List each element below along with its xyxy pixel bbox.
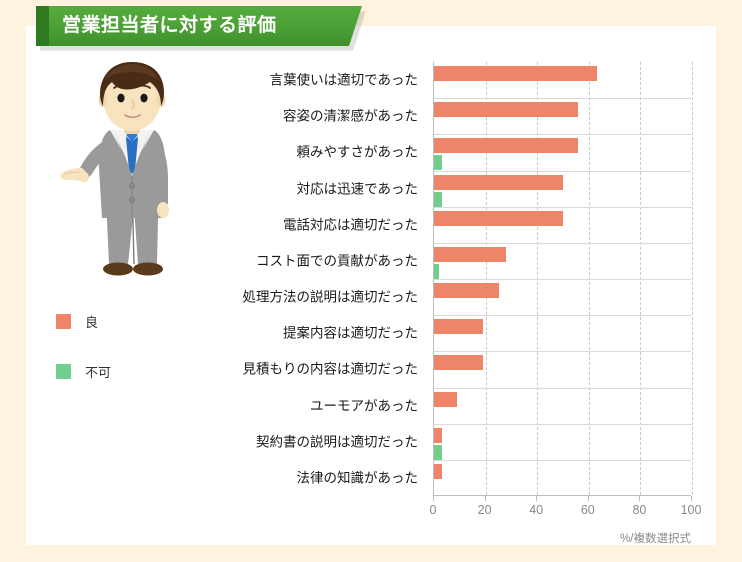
bar-良-0 [434, 66, 597, 81]
bar-不可-3 [434, 192, 442, 207]
bar-良-9 [434, 392, 457, 407]
x-tick-label-0: 0 [430, 503, 437, 517]
x-tick-label-40: 40 [529, 503, 543, 517]
page-title: 営業担当者に対する評価 [62, 6, 277, 46]
bar-良-3 [434, 175, 563, 190]
chart-legend: 良 不可 [56, 310, 111, 410]
x-tick-0 [433, 496, 434, 501]
bar-不可-5 [434, 264, 439, 279]
row-separator [434, 351, 691, 352]
category-label: ユーモアがあった [310, 399, 418, 413]
title-banner: 営業担当者に対する評価 [36, 6, 366, 48]
x-tick-100 [691, 496, 692, 501]
row-separator [434, 207, 691, 208]
category-label: 処理方法の説明は適切だった [243, 290, 419, 304]
bar-不可-10 [434, 445, 442, 460]
legend-item-good: 良 [56, 310, 111, 332]
legend-label-good: 良 [85, 312, 98, 331]
category-label: 言葉使いは適切であった [270, 73, 418, 87]
x-tick-label-20: 20 [478, 503, 492, 517]
row-separator [434, 134, 691, 135]
page-root: 営業担当者に対する評価 [0, 0, 742, 562]
row-separator [434, 388, 691, 389]
bar-良-8 [434, 355, 483, 370]
x-tick-80 [639, 496, 640, 501]
bar-良-5 [434, 247, 506, 262]
gridline-100 [692, 62, 693, 495]
category-label: 見積もりの内容は適切だった [243, 363, 419, 377]
bar-良-4 [434, 211, 563, 226]
bar-良-6 [434, 283, 499, 298]
bar-chart: 言葉使いは適切であった容姿の清潔感があった頼みやすさがあった対応は迅速であった電… [240, 62, 700, 532]
legend-label-bad: 不可 [85, 362, 111, 381]
row-separator [434, 98, 691, 99]
legend-swatch-good [56, 314, 71, 329]
x-tick-40 [536, 496, 537, 501]
row-separator [434, 243, 691, 244]
row-separator [434, 424, 691, 425]
bar-良-10 [434, 428, 442, 443]
bar-良-1 [434, 102, 578, 117]
x-tick-label-80: 80 [632, 503, 646, 517]
row-separator [434, 315, 691, 316]
category-label: コスト面での貢献があった [256, 254, 418, 268]
businessman-illustration [58, 58, 206, 290]
bar-良-2 [434, 138, 578, 153]
bar-良-11 [434, 464, 442, 479]
x-tick-label-100: 100 [681, 503, 702, 517]
row-separator [434, 171, 691, 172]
category-labels: 言葉使いは適切であった容姿の清潔感があった頼みやすさがあった対応は迅速であった電… [240, 62, 426, 496]
x-tick-20 [485, 496, 486, 501]
unit-note: %/複数選択式 [433, 530, 691, 546]
category-label: 契約書の説明は適切だった [256, 435, 418, 449]
plot-area [433, 62, 691, 496]
category-label: 電話対応は適切だった [283, 218, 418, 232]
category-label: 容姿の清潔感があった [283, 110, 418, 124]
row-separator [434, 460, 691, 461]
bar-良-7 [434, 319, 483, 334]
bar-不可-2 [434, 155, 442, 170]
category-label: 法律の知識があった [297, 471, 419, 485]
title-banner-left-edge [36, 6, 49, 46]
legend-swatch-bad [56, 364, 71, 379]
category-label: 頼みやすさがあった [297, 146, 419, 160]
category-label: 対応は迅速であった [297, 182, 418, 196]
category-label: 提案内容は適切だった [283, 327, 418, 341]
row-separator [434, 279, 691, 280]
x-tick-60 [588, 496, 589, 501]
legend-item-bad: 不可 [56, 360, 111, 382]
x-tick-label-60: 60 [581, 503, 595, 517]
